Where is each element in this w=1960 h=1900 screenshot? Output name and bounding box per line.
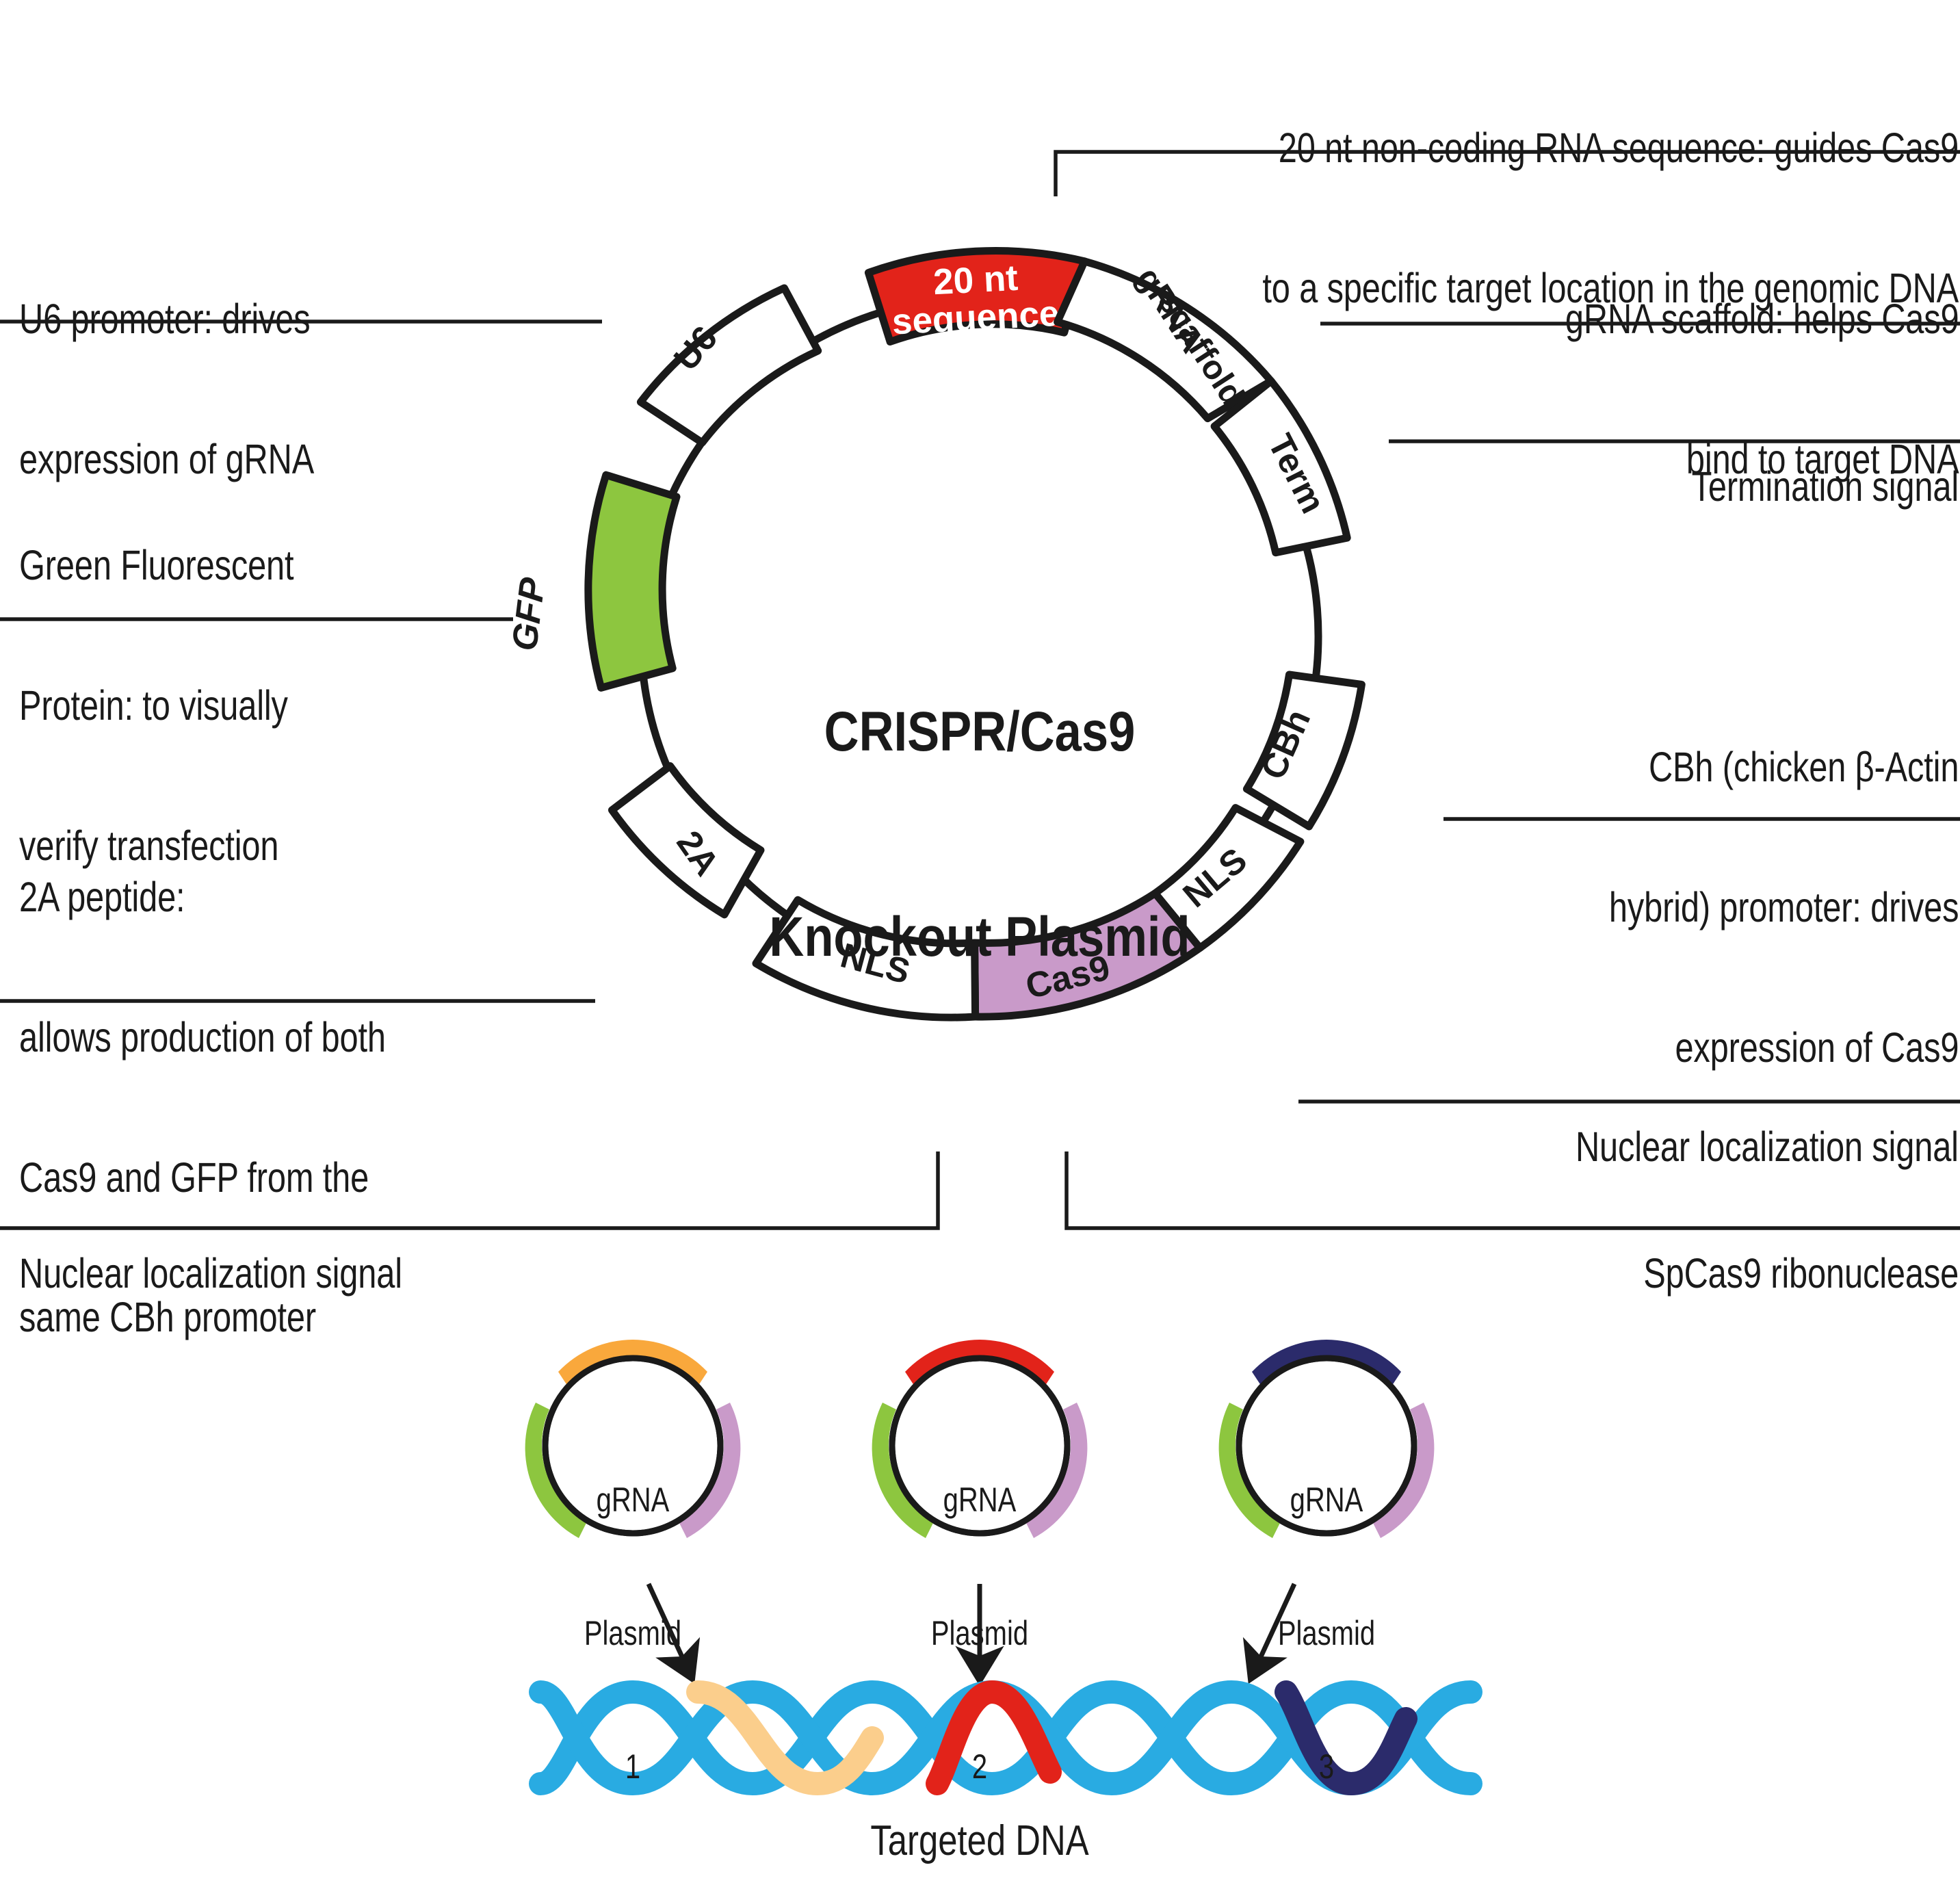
annotation-seq20-line-1: 20 nt non-coding RNA sequence: guides Ca… (1262, 125, 1959, 171)
center-title-line-2: Knockout Plasmid (650, 903, 1309, 972)
annotation-u6-line-2: expression of gRNA (19, 436, 314, 482)
grna-plasmid-1-line-3: 1 (578, 1745, 688, 1789)
grna-plasmid-1-label: gRNA Plasmid 1 (578, 1389, 688, 1878)
segment-term[interactable]: Term (1214, 381, 1347, 553)
center-title-line-1: CRISPR/Cas9 (650, 698, 1309, 766)
grna-plasmid-2-line-3: 2 (925, 1745, 1034, 1789)
annotation-term: Termination signal (1692, 369, 1959, 603)
annotation-grna-scaffold-line-1: gRNA scaffold: helps Cas9 (1565, 296, 1959, 342)
annotation-2a-line-4: same CBh promoter (19, 1294, 386, 1340)
annotation-gfp-line-3: verify transfection (19, 822, 293, 869)
annotation-u6-line-1: U6 promoter: drives (19, 296, 314, 342)
grna-plasmid-1-line-1: gRNA (578, 1478, 688, 1522)
grna-plasmid-3-line-1: gRNA (1272, 1478, 1381, 1522)
grna-plasmid-3-line-2: Plasmid (1272, 1611, 1381, 1656)
segment-gfp-label: GFP (505, 575, 553, 653)
annotation-2a-line-3: Cas9 and GFP from the (19, 1154, 386, 1201)
figure-root: 20 nt sequence gRNA scaffold Term CBh NL… (0, 0, 1960, 1900)
segment-seq20[interactable]: 20 nt sequence (868, 250, 1084, 342)
targeted-dna-caption: Targeted DNA (811, 1817, 1148, 1865)
annotation-cbh-line-2: hybrid) promoter: drives (1609, 884, 1959, 931)
grna-plasmid-2-line-1: gRNA (925, 1478, 1034, 1522)
annotation-term-line-1: Termination signal (1692, 463, 1959, 510)
annotation-2a-line-2: allows production of both (19, 1014, 386, 1060)
grna-plasmid-2-line-2: Plasmid (925, 1611, 1034, 1656)
annotation-gfp-line-2: Protein: to visually (19, 682, 293, 729)
annotation-cas9-line-1: SpCas9 ribonuclease (1643, 1250, 1959, 1297)
annotation-cbh-line-1: CBh (chicken β-Actin (1609, 744, 1959, 790)
segment-seq20-label-2: sequence (891, 294, 1060, 343)
grna-plasmid-2-label: gRNA Plasmid 2 (925, 1389, 1034, 1878)
segment-grna-scaffold[interactable]: gRNA scaffold (1058, 261, 1271, 419)
grna-plasmid-1-line-2: Plasmid (578, 1611, 688, 1656)
grna-plasmid-3-line-3: 3 (1272, 1745, 1381, 1789)
annotation-u6: U6 promoter: drives expression of gRNA (19, 202, 314, 576)
grna-plasmid-3-label: gRNA Plasmid 3 (1272, 1389, 1381, 1878)
segment-u6[interactable]: U6 (640, 288, 818, 443)
annotation-cas9: SpCas9 ribonuclease (1643, 1156, 1959, 1390)
